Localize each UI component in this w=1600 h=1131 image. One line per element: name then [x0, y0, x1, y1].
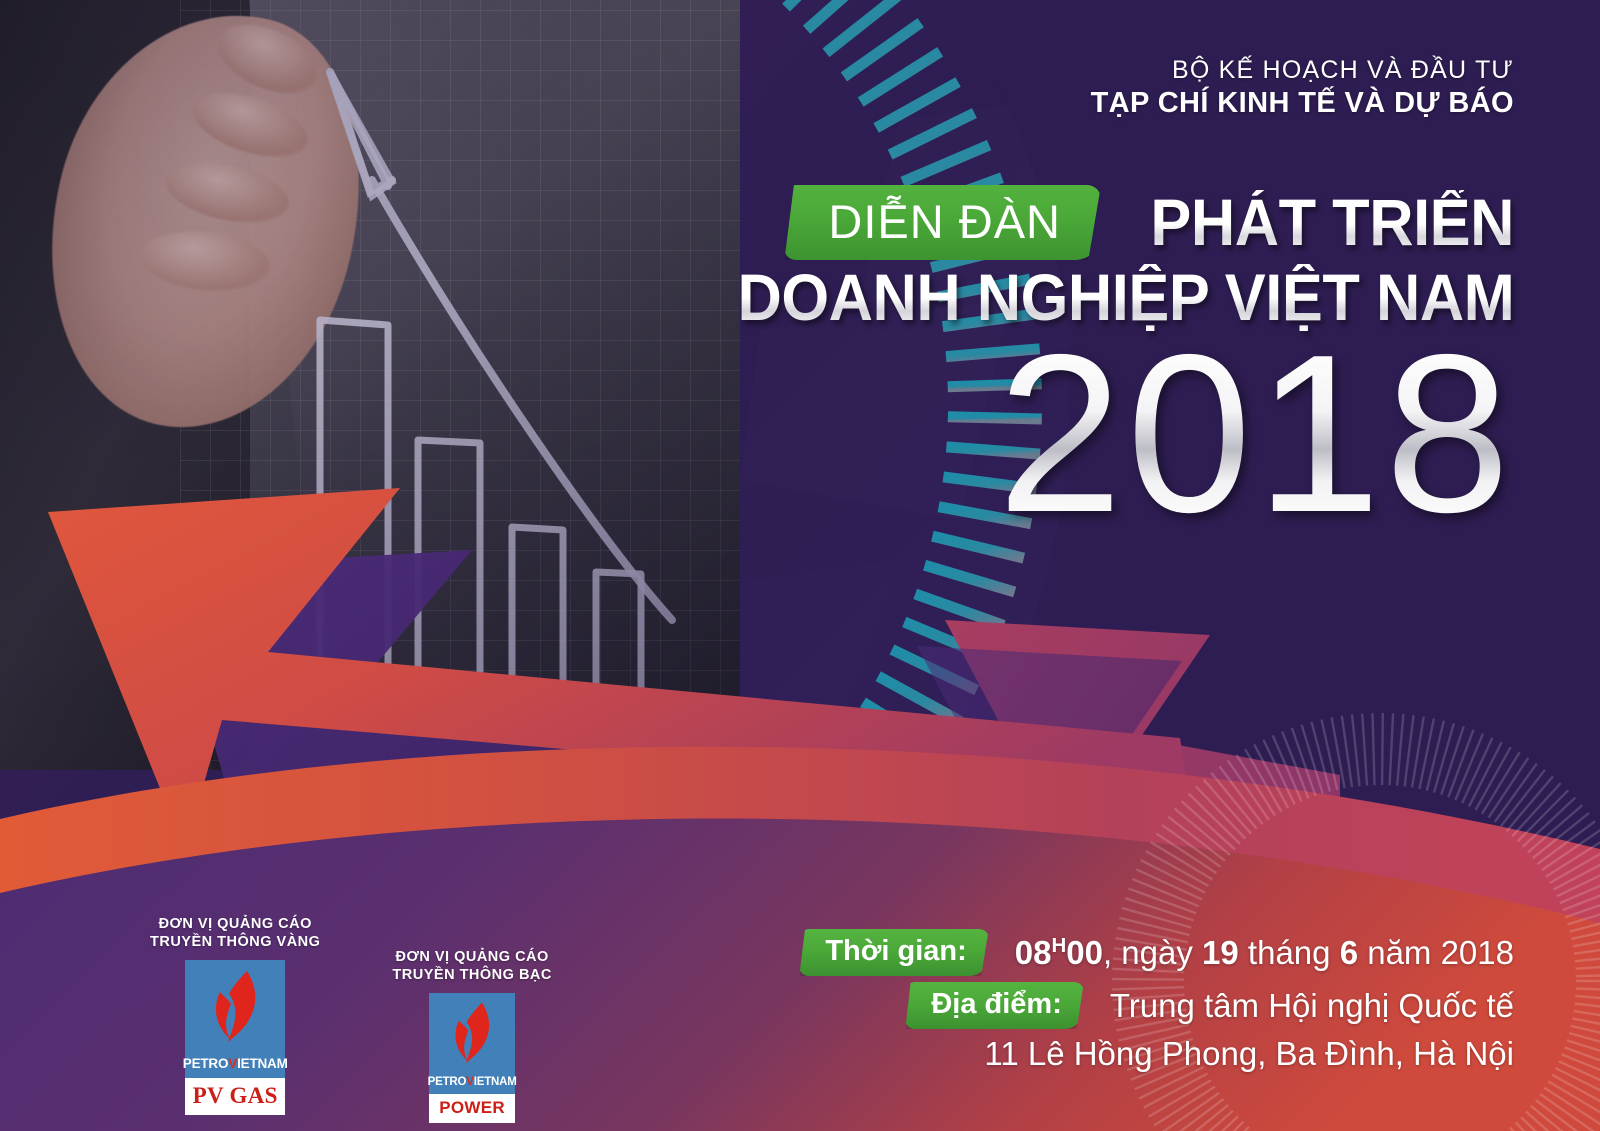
title-row-one: DIỄN ĐÀN PHÁT TRIỂN [679, 185, 1514, 260]
time-separator: , ngày [1103, 934, 1202, 971]
brand-prefix: PETRO [183, 1056, 229, 1071]
organizer-header: BỘ KẾ HOẠCH VÀ ĐẦU TƯ TẠP CHÍ KINH TẾ VÀ… [1091, 55, 1514, 121]
pv-gas-logo-blue-panel: PETROVIETNAM [185, 960, 285, 1078]
sponsor-logos: ĐƠN VỊ QUẢNG CÁO TRUYỀN THÔNG VÀNG PETRO… [150, 915, 552, 1115]
time-minute: 00 [1066, 934, 1103, 971]
publication-name: TẠP CHÍ KINH TẾ VÀ DỰ BÁO [1091, 86, 1514, 121]
forum-tag: DIỄN ĐÀN [784, 185, 1101, 260]
time-day: 19 [1202, 934, 1239, 971]
time-h-marker: H [1051, 934, 1066, 957]
petrovietnam-wordmark: PETROVIETNAM [183, 1056, 288, 1071]
time-value: 08H00, ngày 19 tháng 6 năm 2018 [1015, 934, 1514, 972]
pv-gas-name: PV GAS [185, 1078, 285, 1115]
brand-suffix: IETNAM [237, 1056, 288, 1071]
title-line-1: PHÁT TRIỂN [1150, 190, 1514, 255]
event-poster: BỘ KẾ HOẠCH VÀ ĐẦU TƯ TẠP CHÍ KINH TẾ VÀ… [0, 0, 1600, 1131]
time-month-word: tháng [1239, 934, 1340, 971]
ministry-name: BỘ KẾ HOẠCH VÀ ĐẦU TƯ [1091, 55, 1514, 86]
title-block: DIỄN ĐÀN PHÁT TRIỂN DOANH NGHIỆP VIỆT NA… [679, 185, 1514, 531]
brand-suffix: IETNAM [474, 1076, 517, 1088]
pv-gas-logo: PETROVIETNAM PV GAS [185, 960, 285, 1115]
petrovietnam-flame-icon [185, 968, 285, 1044]
sponsor-silver-label-line2: TRUYỀN THÔNG BẠC [392, 966, 551, 984]
sponsor-gold-label: ĐƠN VỊ QUẢNG CÁO TRUYỀN THÔNG VÀNG [150, 915, 320, 951]
place-label: Địa điểm: [905, 982, 1084, 1029]
venue-address: 11 Lê Hồng Phong, Ba Đình, Hà Nội [799, 1035, 1514, 1073]
petrovietnam-flame-icon [429, 1000, 515, 1065]
sponsor-silver-label: ĐƠN VỊ QUẢNG CÁO TRUYỀN THÔNG BẠC [392, 948, 551, 984]
time-label: Thời gian: [799, 929, 988, 976]
pv-power-logo-blue-panel: PETROVIETNAM [429, 993, 515, 1094]
sponsor-gold: ĐƠN VỊ QUẢNG CÁO TRUYỀN THÔNG VÀNG PETRO… [150, 915, 320, 1115]
pv-power-logo: PETROVIETNAM POWER [429, 993, 515, 1123]
event-year: 2018 [679, 337, 1514, 531]
brand-prefix: PETRO [428, 1076, 467, 1088]
time-year-word: năm 2018 [1358, 934, 1514, 971]
sponsor-silver: ĐƠN VỊ QUẢNG CÁO TRUYỀN THÔNG BẠC PETROV… [392, 948, 551, 1123]
pv-power-name: POWER [429, 1094, 515, 1123]
sponsor-gold-label-line2: TRUYỀN THÔNG VÀNG [150, 933, 320, 951]
place-row: Địa điểm: Trung tâm Hội nghị Quốc tế [799, 982, 1514, 1029]
sponsor-gold-label-line1: ĐƠN VỊ QUẢNG CÁO [150, 915, 320, 933]
event-details: Thời gian: 08H00, ngày 19 tháng 6 năm 20… [799, 929, 1514, 1073]
sponsor-silver-label-line1: ĐƠN VỊ QUẢNG CÁO [392, 948, 551, 966]
time-month: 6 [1340, 934, 1358, 971]
venue-name: Trung tâm Hội nghị Quốc tế [1110, 987, 1514, 1025]
time-row: Thời gian: 08H00, ngày 19 tháng 6 năm 20… [799, 929, 1514, 976]
brand-v: V [466, 1076, 473, 1088]
brand-v: V [228, 1056, 237, 1071]
time-hour: 08 [1015, 934, 1052, 971]
petrovietnam-wordmark: PETROVIETNAM [428, 1076, 517, 1088]
